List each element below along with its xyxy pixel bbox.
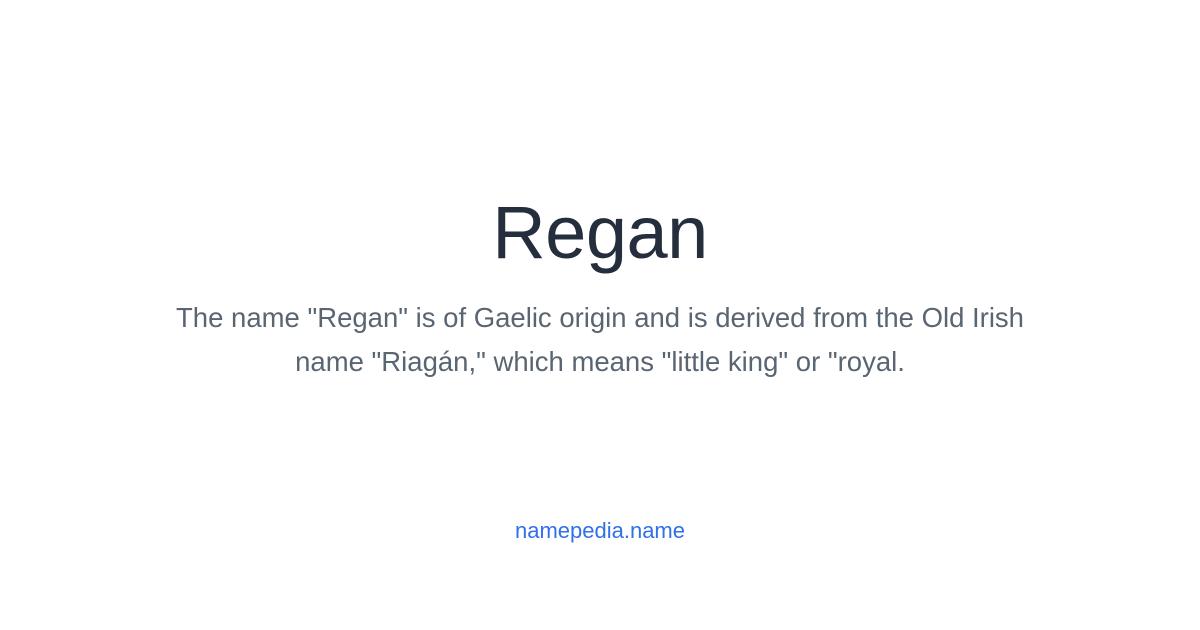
page-title: Regan <box>492 196 708 270</box>
footer: namepedia.name <box>0 518 1200 544</box>
site-link[interactable]: namepedia.name <box>515 518 685 543</box>
name-description: The name "Regan" is of Gaelic origin and… <box>170 296 1030 384</box>
name-meaning-card: Regan The name "Regan" is of Gaelic orig… <box>0 0 1200 630</box>
